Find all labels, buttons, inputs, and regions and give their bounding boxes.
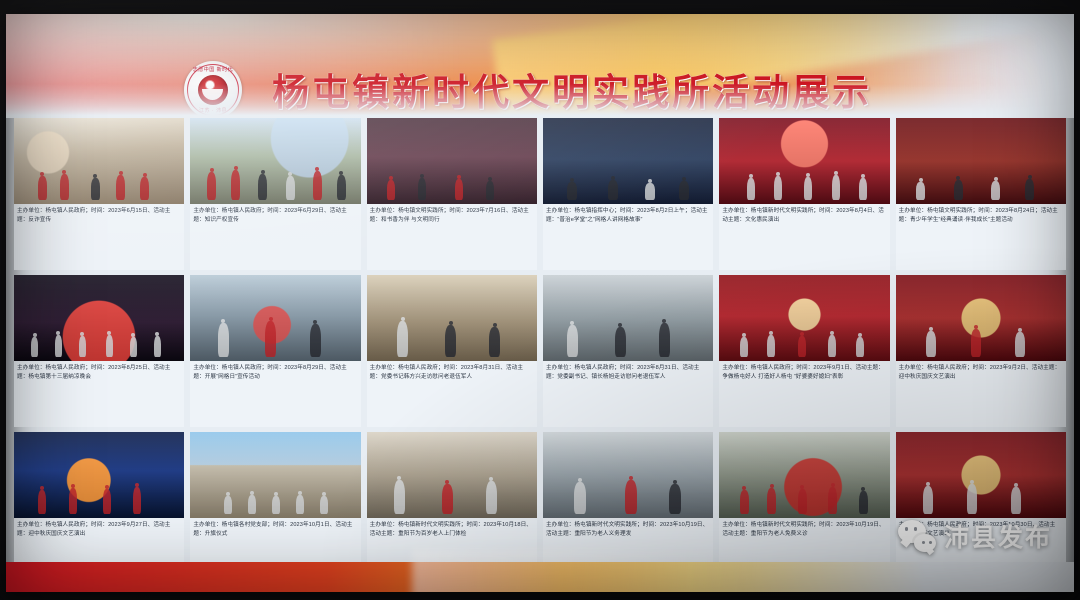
activity-cell: 主办单位：杨屯镇人民政府；时间：2023年6月29日、活动主题：知识产权宣传 [190,118,360,270]
activity-caption: 主办单位：杨屯镇人民政府；时间：2023年8月31日、活动主题：党委副书记、镇长… [543,361,713,427]
activity-photo-classroom-anti-fraud-lecture [14,118,184,204]
activity-photo-opera-performance-red-stage [896,432,1066,518]
activity-cell: 主办单位：杨屯镇文明实践所；时间：2023年8月24日；活动主题：青少年学生“经… [896,118,1066,270]
activity-photo-grid: 主办单位：杨屯镇人民政府；时间：2023年6月15日、活动主题：反诈宣传 主办单… [14,118,1066,584]
wechat-icon [898,520,936,552]
activity-caption: 主办单位：杨屯镇文明实践所；时间：2023年7月16日、活动主题：和书香为伴 与… [367,204,537,270]
activity-photo-grid-day-campaign-award [190,275,360,361]
activity-cell: 主办单位：杨屯镇人民政府；时间：2023年8月31日、活动主题：党委书记韩方兴走… [367,275,537,427]
watermark: 沛县发布 [898,518,1052,554]
footer-glow [412,550,839,592]
activity-caption: 主办单位：杨屯镇人民政府；时间：2023年8月31日、活动主题：党委书记韩方兴走… [367,361,537,427]
activity-cell: 主办单位：杨屯镇人民政府；时间：2023年8月31日、活动主题：党委副书记、镇长… [543,275,713,427]
activity-photo-deputy-secretary-visiting-veteran [543,275,713,361]
activity-photo-stage-cultural-performance [719,118,889,204]
activity-cell: 主办单位：杨屯镇人民政府；时间：2023年8月29日、活动主题：开展“网格日”宣… [190,275,360,427]
activity-caption: 主办单位：杨屯镇人民政府；时间：2023年6月29日、活动主题：知识产权宣传 [190,204,360,270]
activity-caption: 主办单位：杨屯镇人民政府；时间：2023年9月1日、活动主题：争做杨屯好人 打造… [719,361,889,427]
activity-caption: 主办单位：杨屯镇人民政府；时间：2023年6月15日、活动主题：反诈宣传 [14,204,184,270]
activity-cell: 主办单位：杨屯镇人民政府；时间：2023年9月2日、活动主题：迎中秋庆国庆文艺演… [896,275,1066,427]
activity-photo-volunteers-serving-elderly-outdoor [719,432,889,518]
activity-cell: 主办单位：杨屯镇指挥中心；时间：2023年8月2日上午；活动主题：“普治e学堂”… [543,118,713,270]
activity-photo-flag-raising-ceremony [190,432,360,518]
activity-photo-classics-recitation-youth-activity [896,118,1066,204]
activity-photo-mid-autumn-national-day-gala [896,275,1066,361]
activity-caption: 主办单位：杨屯镇新时代文明实践所；时间：2023年8月4日、活动主题：文化惠民演… [719,204,889,270]
activity-photo-good-people-commendation-stage [719,275,889,361]
activity-cell: 主办单位：杨屯镇文明实践所；时间：2023年7月16日、活动主题：和书香为伴 与… [367,118,537,270]
activity-photo-dance-performance-blue-stage [14,432,184,518]
activity-photo-chorus-summer-evening-gala [14,275,184,361]
exhibition-board: 志愿中国 新时代 江苏 · 沛县 杨屯镇新时代文明实践所活动展示 主办单位：杨屯… [6,14,1074,592]
emblem-arc-top-text: 志愿中国 新时代 [184,66,242,73]
activity-cell: 主办单位：杨屯镇人民政府；时间：2023年6月15日、活动主题：反诈宣传 [14,118,184,270]
watermark-text: 沛县发布 [944,518,1052,554]
activity-caption: 主办单位：杨屯镇指挥中心；时间：2023年8月2日上午；活动主题：“普治e学堂”… [543,204,713,270]
activity-cell: 主办单位：杨屯镇新时代文明实践所；时间：2023年8月4日、活动主题：文化惠民演… [719,118,889,270]
activity-photo-meeting-room-grid-story-lecture [543,118,713,204]
activity-photo-street-ip-rights-campaign [190,118,360,204]
activity-cell: 主办单位：杨屯镇人民政府；时间：2023年9月1日、活动主题：争做杨屯好人 打造… [719,275,889,427]
board-header: 志愿中国 新时代 江苏 · 沛县 杨屯镇新时代文明实践所活动展示 [6,14,1074,118]
activity-caption: 主办单位：杨屯镇人民政府；时间：2023年8月25日、活动主题：杨屯镇第十三届纳… [14,361,184,427]
activity-cell: 主办单位：杨屯镇人民政府；时间：2023年8月25日、活动主题：杨屯镇第十三届纳… [14,275,184,427]
activity-photo-secretary-visiting-veteran [367,275,537,361]
activity-photo-free-haircut-for-elderly [543,432,713,518]
activity-caption: 主办单位：杨屯镇人民政府；时间：2023年9月2日、活动主题：迎中秋庆国庆文艺演… [896,361,1066,427]
activity-photo-reading-room-book-fragrance [367,118,537,204]
activity-caption: 主办单位：杨屯镇人民政府；时间：2023年8月29日、活动主题：开展“网格日”宣… [190,361,360,427]
header-fade [6,84,1074,118]
activity-photo-doctors-home-visit-centenarian [367,432,537,518]
activity-caption: 主办单位：杨屯镇文明实践所；时间：2023年8月24日；活动主题：青少年学生“经… [896,204,1066,270]
board-footer [6,562,1074,592]
screenshot-root: 志愿中国 新时代 江苏 · 沛县 杨屯镇新时代文明实践所活动展示 主办单位：杨屯… [0,0,1080,600]
